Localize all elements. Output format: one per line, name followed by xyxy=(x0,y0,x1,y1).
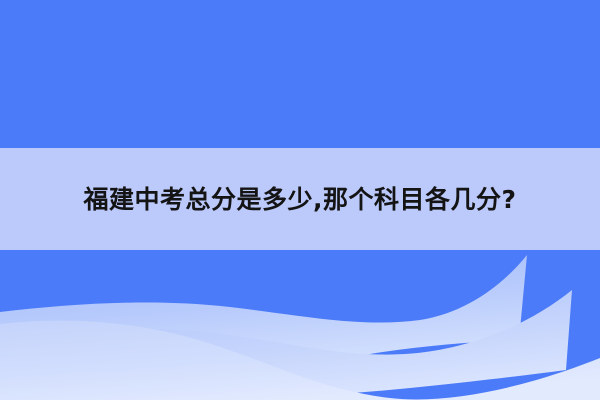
top-color-band xyxy=(0,0,600,148)
banner-image: 福建中考总分是多少,那个科目各几分? xyxy=(0,0,600,400)
wave-graphic xyxy=(0,250,600,400)
page-title: 福建中考总分是多少,那个科目各几分? xyxy=(83,187,516,212)
title-band: 福建中考总分是多少,那个科目各几分? xyxy=(0,148,600,250)
wave-band xyxy=(0,250,600,400)
